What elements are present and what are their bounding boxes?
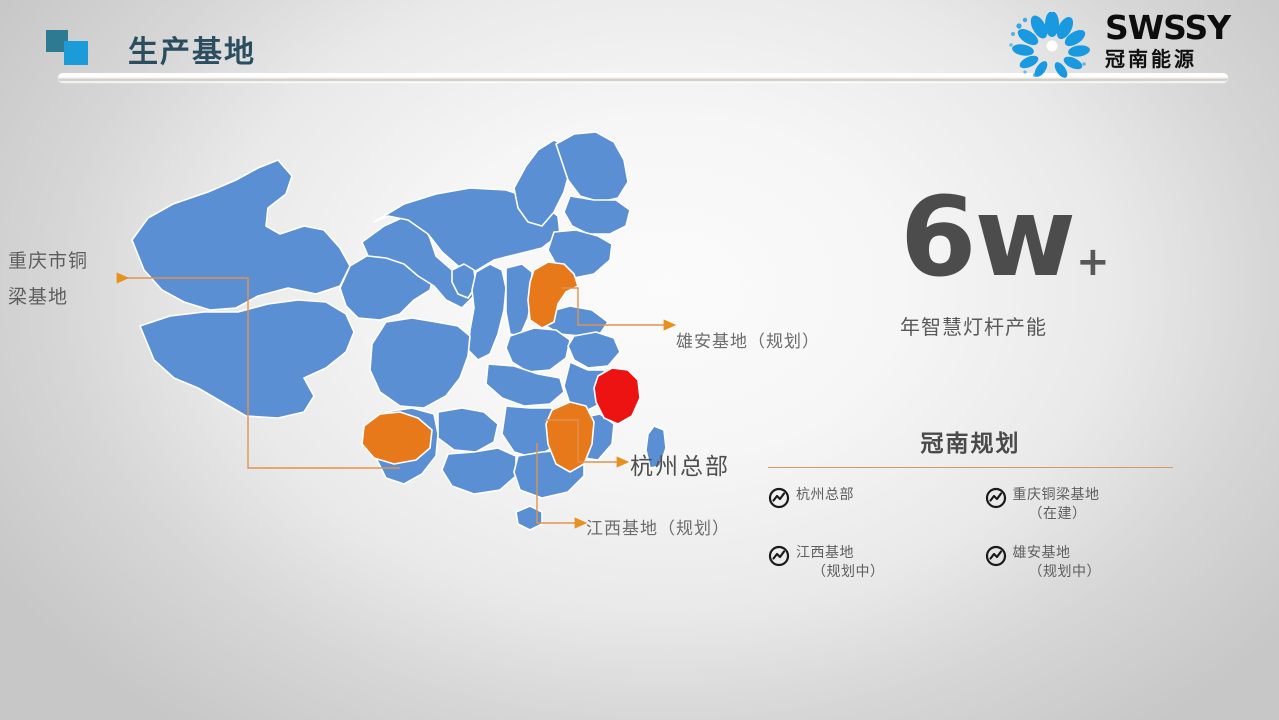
plan-item-hangzhou[interactable]: 杭州总部 [768,486,971,524]
plan-item-text: 杭州总部 [796,486,854,505]
plan-item-label: 雄安基地 [1013,545,1071,561]
province-heilongjiang [556,132,628,202]
plan-item-note: （在建） [1013,505,1100,524]
plan-item-note: （规划中） [796,563,885,582]
province-jiangsu [568,332,620,368]
capacity-stat: 6w+ 年智慧灯杆产能 [900,185,1230,340]
callout-hangzhou: 杭州总部 [630,447,730,481]
swssy-droplet-flower-icon [1005,12,1099,78]
logo-wordmark: SWSSY [1105,10,1230,46]
plan-item-note: （规划中） [1013,563,1102,582]
capacity-caption: 年智慧灯杆产能 [900,311,1230,340]
callout-chongqing-line1: 重庆市铜 [8,243,118,279]
plan-panel-divider [768,467,1173,468]
callout-chongqing-line2: 梁基地 [8,279,118,315]
callout-xiongan: 雄安基地（规划） [676,327,820,352]
plan-item-list: 杭州总部 重庆铜梁基地 （在建） 江西基地 （规划中） [768,486,1173,582]
page-title: 生产基地 [128,27,256,71]
province-tibet [140,300,354,418]
province-hubei [486,364,564,406]
capacity-plus-sign: + [1076,239,1110,285]
logo-text: SWSSY 冠南能源 [1105,10,1230,72]
province-xinjiang [132,160,350,310]
plan-item-label: 重庆铜梁基地 [1013,487,1100,503]
province-guizhou [438,408,498,452]
plan-item-label: 江西基地 [796,545,854,561]
plan-panel-title: 冠南规划 [768,424,1173,458]
brand-logo: SWSSY 冠南能源 [1005,8,1261,82]
plan-panel: 冠南规划 杭州总部 重庆铜梁基地 （在建） [768,424,1173,582]
china-map [118,130,678,570]
circle-wave-icon [768,545,790,567]
header-square-light-icon [64,41,88,65]
logo-subtitle: 冠南能源 [1105,46,1230,72]
china-map-svg [118,130,678,570]
plan-item-label: 杭州总部 [796,487,854,503]
plan-item-chongqing[interactable]: 重庆铜梁基地 （在建） [971,486,1174,524]
circle-wave-icon [768,487,790,509]
page-header: 生产基地 [0,0,1279,96]
callout-jiangxi: 江西基地（规划） [586,514,730,539]
province-guangxi [442,448,516,494]
capacity-stat-row: 6w+ [900,185,1230,289]
callout-chongqing: 重庆市铜 梁基地 [8,243,118,315]
plan-item-xiongan[interactable]: 雄安基地 （规划中） [971,544,1174,582]
plan-item-text: 雄安基地 （规划中） [1013,544,1102,582]
province-jilin [564,196,630,234]
province-sichuan [370,318,470,408]
capacity-number: 6w [900,185,1074,289]
circle-wave-icon [985,545,1007,567]
plan-item-text: 重庆铜梁基地 （在建） [1013,486,1100,524]
plan-item-text: 江西基地 （规划中） [796,544,885,582]
province-hainan [516,506,542,530]
circle-wave-icon [985,487,1007,509]
province-henan [506,328,570,372]
plan-item-jiangxi[interactable]: 江西基地 （规划中） [768,544,971,582]
